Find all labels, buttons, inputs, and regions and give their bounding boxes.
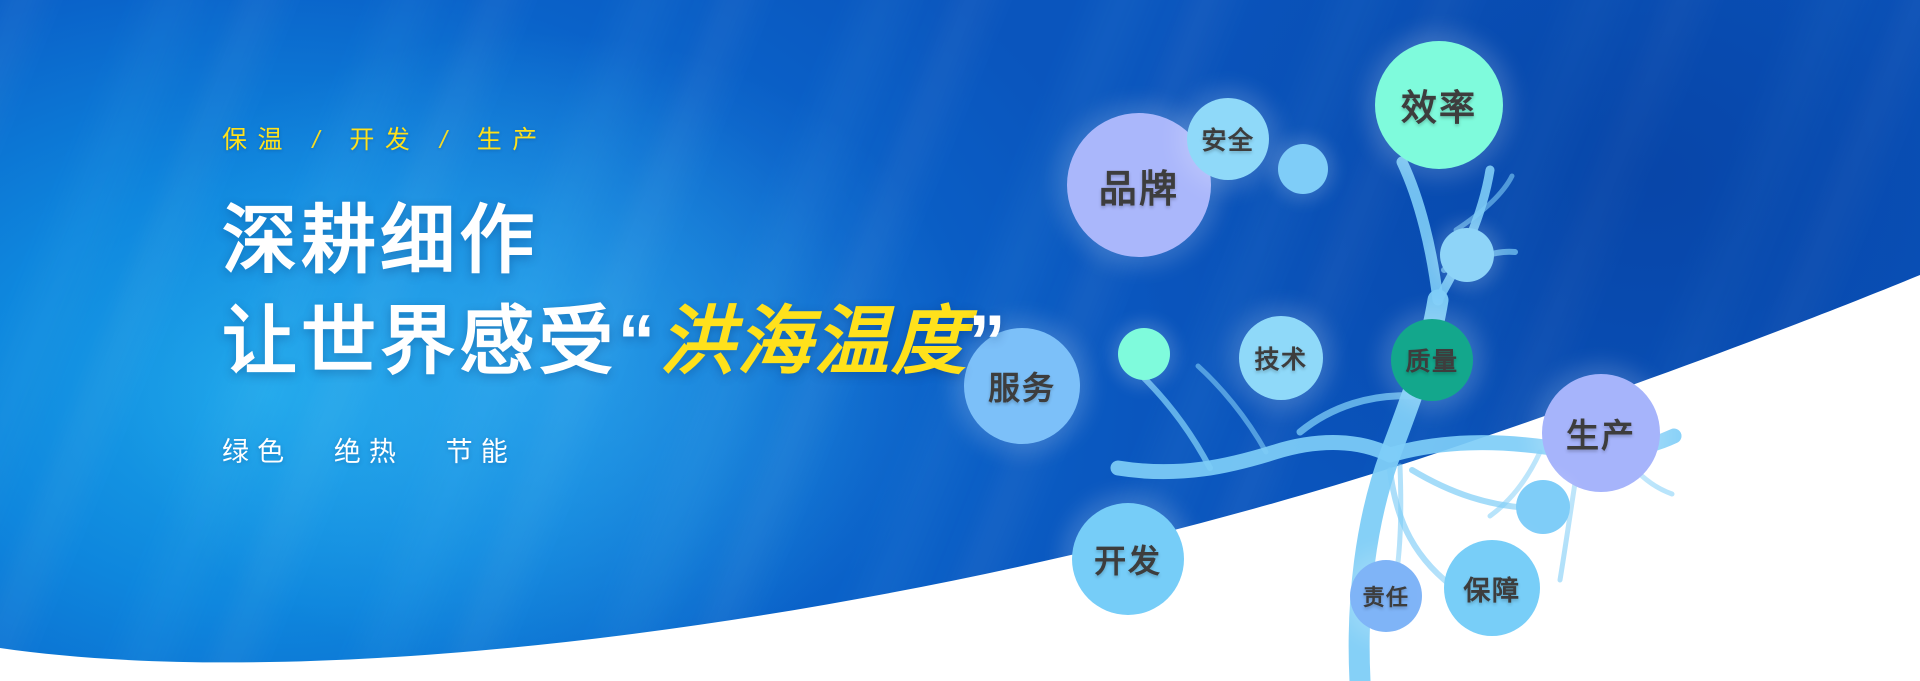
tagline-item-3: 生产: [477, 126, 548, 154]
headline-line-2-prefix: 让世界感受: [222, 299, 618, 383]
hero-banner: 品牌安全效率技术质量服务生产开发责任保障 保温 / 开发 / 生产 深耕细作 让…: [0, 0, 1920, 681]
headline-line-2: 让世界感受“洪海温度”: [222, 299, 1152, 384]
bubble-label: 效率: [1401, 79, 1477, 131]
bubble-label: 责任: [1363, 580, 1410, 612]
quote-open: “: [618, 299, 660, 383]
bubble-label: 保障: [1463, 569, 1520, 608]
page-title: 深耕细作 让世界感受“洪海温度”: [222, 198, 1152, 384]
bubble-label: 技术: [1254, 340, 1307, 376]
bubble-accent-dot: [1516, 480, 1570, 534]
headline-line-1: 深耕细作: [222, 198, 539, 282]
subline-item-3: 节能: [446, 437, 516, 467]
tagline-item-1: 保温: [222, 126, 293, 154]
bubble-label: 安全: [1201, 121, 1254, 157]
tagline: 保温 / 开发 / 生产: [222, 120, 1152, 156]
bubble-label: 开发: [1094, 536, 1162, 582]
tagline-separator-1: /: [310, 126, 331, 154]
bubble-label: 生产: [1566, 409, 1636, 457]
bubble-质量: 质量: [1391, 319, 1473, 401]
bubble-label: 质量: [1405, 342, 1458, 378]
bubble-accent-dot: [1278, 144, 1328, 194]
quote-close: ”: [968, 299, 1010, 383]
subline-item-2: 绝热: [334, 437, 404, 467]
headline-highlight: 洪海温度: [659, 299, 968, 383]
bubble-技术: 技术: [1239, 316, 1323, 400]
bubble-accent-dot: [1440, 228, 1494, 282]
bubble-生产: 生产: [1542, 374, 1660, 492]
bubble-责任: 责任: [1350, 560, 1422, 632]
tagline-item-2: 开发: [349, 126, 420, 154]
subline-item-1: 绿色: [222, 437, 292, 467]
bubble-效率: 效率: [1375, 41, 1503, 169]
subline: 绿色 绝热 节能: [222, 430, 1152, 469]
bubble-安全: 安全: [1187, 98, 1269, 180]
bubble-开发: 开发: [1072, 503, 1184, 615]
concept-tree-graphic: 品牌安全效率技术质量服务生产开发责任保障: [1060, 0, 1920, 681]
bubble-保障: 保障: [1444, 540, 1540, 636]
hero-copy: 保温 / 开发 / 生产 深耕细作 让世界感受“洪海温度” 绿色 绝热 节能: [222, 120, 1152, 469]
tagline-separator-2: /: [438, 126, 459, 154]
